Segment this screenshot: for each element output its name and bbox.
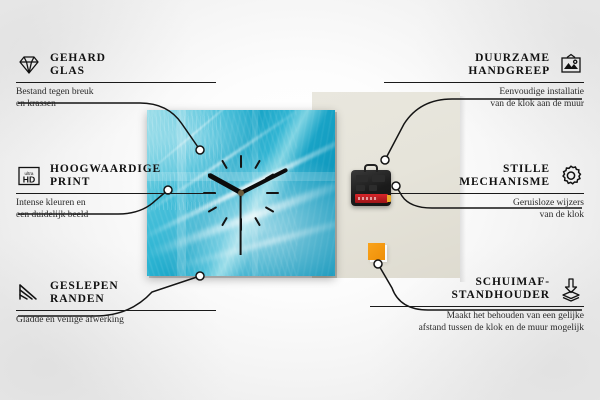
feature-title-line1: HOOGWAARDIGE: [50, 163, 161, 175]
feature-divider: [384, 82, 584, 83]
feature-title-line1: GEHARD: [50, 52, 106, 64]
feature-desc-line1: Maakt het behouden van een gelijke: [447, 311, 584, 321]
foam-spacer: [368, 243, 385, 260]
feature-divider: [384, 193, 584, 194]
feature-desc-line2: een duidelijk beeld: [16, 210, 88, 220]
feature-title-line1: GESLEPEN: [50, 280, 119, 292]
feature-title-line1: SCHUIMAF-: [475, 276, 550, 288]
feature-title-line1: STILLE: [503, 163, 550, 175]
feature-desc-line1: Gladde en veilige afwerking: [16, 315, 124, 325]
feature-desc-line1: Bestand tegen breuk: [16, 87, 94, 97]
feature-title-line2: STANDHOUDER: [451, 289, 550, 301]
feature-divider: [16, 82, 216, 83]
feature-desc-line1: Eenvoudige installatie: [499, 87, 584, 97]
gear-icon: [558, 163, 584, 189]
feature-title-line2: GLAS: [50, 65, 85, 77]
ultra-hd-icon: ultra HD: [16, 163, 42, 189]
feature-schuimafstandhouder: SCHUIMAF- STANDHOUDER Maakt het behouden…: [370, 276, 584, 334]
feature-desc-line2: afstand tussen de klok en de muur mogeli…: [419, 323, 584, 333]
feature-desc-line2: van de klok: [540, 210, 584, 220]
feature-gehard-glas: GEHARD GLAS Bestand tegen breuk en krass…: [16, 52, 216, 110]
mechanism-detail: [369, 185, 377, 191]
feature-desc-line2: en krassen: [16, 99, 56, 109]
clock-center-cap: [238, 190, 244, 196]
feature-desc-line1: Geruisloze wijzers: [513, 198, 584, 208]
feature-title-line2: HANDGREEP: [468, 65, 550, 77]
picture-frame-icon: [558, 52, 584, 78]
feature-divider: [370, 306, 584, 307]
feature-divider: [16, 193, 216, 194]
clock-second-hand: [240, 193, 242, 255]
feature-geslepen-randen: GESLEPEN RANDEN Gladde en veilige afwerk…: [16, 280, 216, 327]
hatch-lines-icon: [16, 280, 42, 306]
download-stack-icon: [558, 276, 584, 302]
infographic-stage: GEHARD GLAS Bestand tegen breuk en krass…: [0, 0, 600, 400]
feature-title-line2: RANDEN: [50, 293, 105, 305]
feature-title-line2: PRINT: [50, 176, 90, 188]
mechanism-hanger-hook: [364, 164, 378, 172]
mechanism-detail: [356, 185, 365, 191]
feature-divider: [16, 310, 216, 311]
feature-title-line2: MECHANISME: [459, 176, 550, 188]
feature-desc-line1: Intense kleuren en: [16, 198, 86, 208]
feature-hoogwaardige-print: ultra HD HOOGWAARDIGE PRINT Intense kleu…: [16, 163, 216, 221]
feature-desc-line2: van de klok aan de muur: [490, 99, 584, 109]
feature-title-line1: DUURZAME: [475, 52, 550, 64]
feature-stille-mechanisme: STILLE MECHANISME Geruisloze wijzers van…: [384, 163, 584, 221]
mechanism-detail: [356, 175, 368, 182]
feature-duurzame-handgreep: DUURZAME HANDGREEP Eenvoudige installati…: [384, 52, 584, 110]
svg-text:HD: HD: [23, 174, 35, 184]
diamond-icon: [16, 52, 42, 78]
